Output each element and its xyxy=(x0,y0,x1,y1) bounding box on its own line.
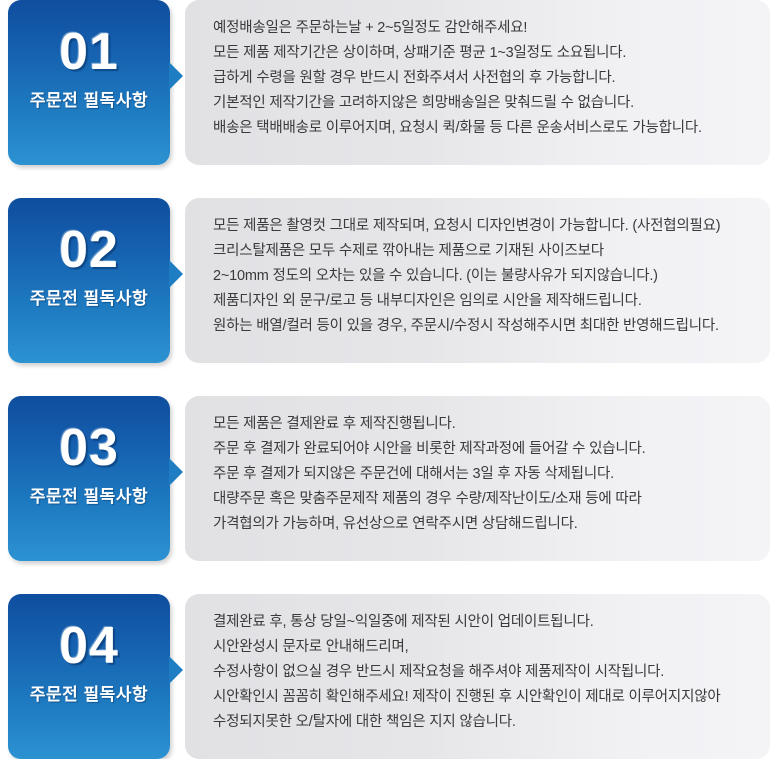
panel-line: 가격협의가 가능하며, 유선상으로 연락주시면 상담해드립니다. xyxy=(213,512,750,537)
panel-line: 주문 후 결제가 되지않은 주문건에 대해서는 3일 후 자동 삭제됩니다. xyxy=(213,462,750,487)
panel-line: 대량주문 혹은 맞춤주문제작 제품의 경우 수량/제작난이도/소재 등에 따라 xyxy=(213,487,750,512)
panel-lines: 모든 제품은 결제완료 후 제작진행됩니다. 주문 후 결제가 완료되어야 시안… xyxy=(213,412,750,537)
panel-line: 수정사항이 없으실 경우 반드시 제작요청을 해주셔야 제품제작이 시작됩니다. xyxy=(213,660,750,685)
panel-line: 제품디자인 외 문구/로고 등 내부디자인은 임의로 시안을 제작해드립니다. xyxy=(213,289,750,314)
notice-panel-04: 결제완료 후, 통상 당일~익일중에 제작된 시안이 업데이트됩니다. 시안완성… xyxy=(185,594,770,759)
panel-line: 모든 제품 제작기간은 상이하며, 상패기준 평균 1~3일정도 소요됩니다. xyxy=(213,41,750,66)
badge-inner: 01 주문전 필독사항 xyxy=(8,26,170,111)
triangle-pointer-icon xyxy=(169,260,183,288)
notice-row: 02 주문전 필독사항 모든 제품은 촬영컷 그대로 제작되며, 요청시 디자인… xyxy=(0,198,770,363)
panel-line: 2~10mm 정도의 오차는 있을 수 있습니다. (이는 불량사유가 되지않습… xyxy=(213,264,750,289)
panel-line: 예정배송일은 주문하는날 + 2~5일정도 감안해주세요! xyxy=(213,16,750,41)
triangle-pointer-icon xyxy=(169,458,183,486)
badge-number: 02 xyxy=(8,224,170,276)
badge-number: 01 xyxy=(8,26,170,78)
badge-label: 주문전 필독사항 xyxy=(8,290,170,309)
notice-list: 01 주문전 필독사항 예정배송일은 주문하는날 + 2~5일정도 감안해주세요… xyxy=(0,0,770,759)
notice-panel-03: 모든 제품은 결제완료 후 제작진행됩니다. 주문 후 결제가 완료되어야 시안… xyxy=(185,396,770,561)
panel-line: 크리스탈제품은 모두 수제로 깎아내는 제품으로 기재된 사이즈보다 xyxy=(213,239,750,264)
panel-line: 기본적인 제작기간을 고려하지않은 희망배송일은 맞춰드릴 수 없습니다. xyxy=(213,91,750,116)
panel-line: 모든 제품은 촬영컷 그대로 제작되며, 요청시 디자인변경이 가능합니다. (… xyxy=(213,214,750,239)
notice-panel-02: 모든 제품은 촬영컷 그대로 제작되며, 요청시 디자인변경이 가능합니다. (… xyxy=(185,198,770,363)
panel-line: 수정되지못한 오/탈자에 대한 책임은 지지 않습니다. xyxy=(213,710,750,735)
notice-badge-01: 01 주문전 필독사항 xyxy=(8,0,170,165)
panel-line: 시안완성시 문자로 안내해드리며, xyxy=(213,635,750,660)
panel-lines: 결제완료 후, 통상 당일~익일중에 제작된 시안이 업데이트됩니다. 시안완성… xyxy=(213,610,750,735)
badge-label: 주문전 필독사항 xyxy=(8,686,170,705)
panel-line: 배송은 택배배송로 이루어지며, 요청시 퀵/화물 등 다른 운송서비스로도 가… xyxy=(213,116,750,141)
panel-line: 원하는 배열/컬러 등이 있을 경우, 주문시/수정시 작성해주시면 최대한 반… xyxy=(213,314,750,339)
triangle-pointer-icon xyxy=(169,62,183,90)
panel-line: 시안확인시 꼼꼼히 확인해주세요! 제작이 진행된 후 시안확인이 제대로 이루… xyxy=(213,685,750,710)
notice-row: 04 주문전 필독사항 결제완료 후, 통상 당일~익일중에 제작된 시안이 업… xyxy=(0,594,770,759)
notice-badge-03: 03 주문전 필독사항 xyxy=(8,396,170,561)
triangle-pointer-icon xyxy=(169,656,183,684)
notice-panel-01: 예정배송일은 주문하는날 + 2~5일정도 감안해주세요! 모든 제품 제작기간… xyxy=(185,0,770,165)
badge-number: 04 xyxy=(8,620,170,672)
panel-lines: 모든 제품은 촬영컷 그대로 제작되며, 요청시 디자인변경이 가능합니다. (… xyxy=(213,214,750,339)
badge-inner: 03 주문전 필독사항 xyxy=(8,422,170,507)
panel-lines: 예정배송일은 주문하는날 + 2~5일정도 감안해주세요! 모든 제품 제작기간… xyxy=(213,16,750,141)
notice-row: 01 주문전 필독사항 예정배송일은 주문하는날 + 2~5일정도 감안해주세요… xyxy=(0,0,770,165)
panel-line: 모든 제품은 결제완료 후 제작진행됩니다. xyxy=(213,412,750,437)
notice-badge-02: 02 주문전 필독사항 xyxy=(8,198,170,363)
notice-row: 03 주문전 필독사항 모든 제품은 결제완료 후 제작진행됩니다. 주문 후 … xyxy=(0,396,770,561)
badge-label: 주문전 필독사항 xyxy=(8,92,170,111)
notice-badge-04: 04 주문전 필독사항 xyxy=(8,594,170,759)
badge-inner: 02 주문전 필독사항 xyxy=(8,224,170,309)
panel-line: 주문 후 결제가 완료되어야 시안을 비롯한 제작과정에 들어갈 수 있습니다. xyxy=(213,437,750,462)
panel-line: 급하게 수령을 원할 경우 반드시 전화주셔서 사전협의 후 가능합니다. xyxy=(213,66,750,91)
badge-label: 주문전 필독사항 xyxy=(8,488,170,507)
badge-number: 03 xyxy=(8,422,170,474)
badge-inner: 04 주문전 필독사항 xyxy=(8,620,170,705)
panel-line: 결제완료 후, 통상 당일~익일중에 제작된 시안이 업데이트됩니다. xyxy=(213,610,750,635)
